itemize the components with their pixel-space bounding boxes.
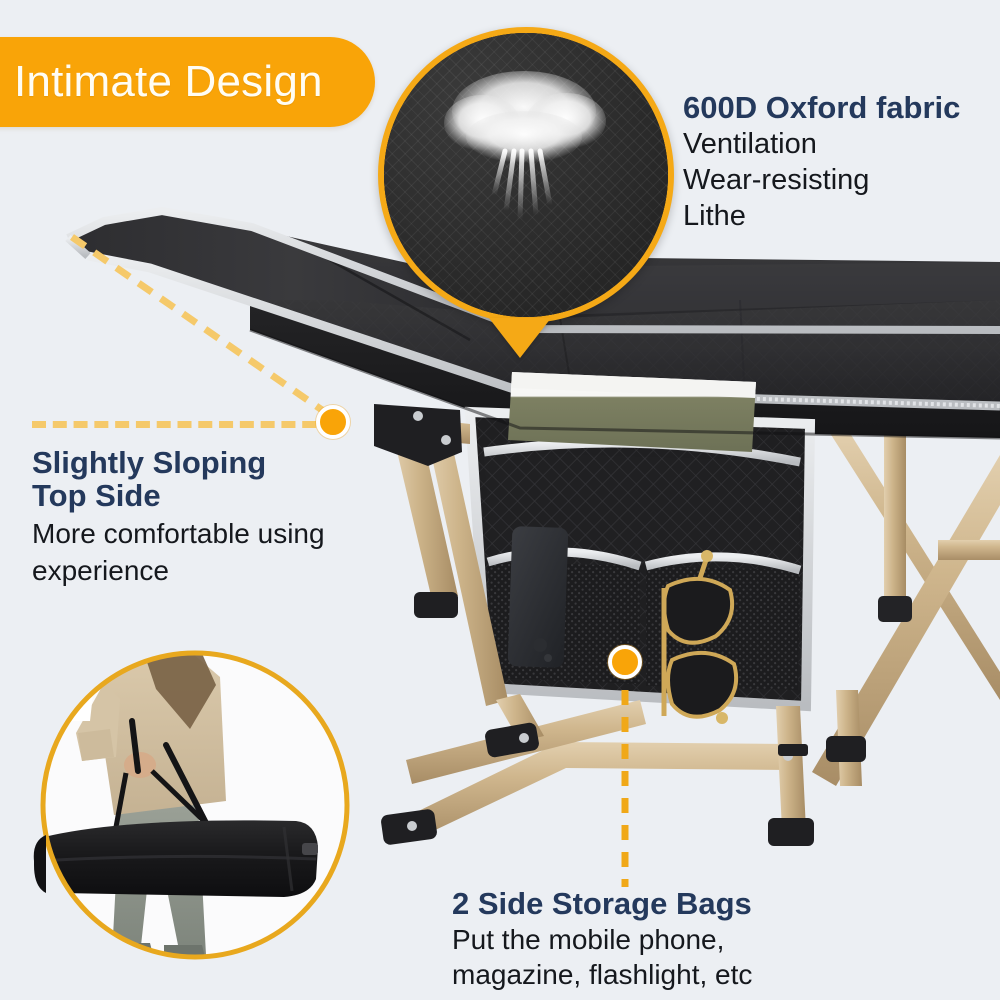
side-storage-bag <box>470 372 810 724</box>
infographic-canvas: Intimate Design 600D Oxford fabric Venti… <box>0 0 1000 1000</box>
callout-text-fabric: 600D Oxford fabric Ventilation Wear-resi… <box>683 92 1000 233</box>
connector-line-slope-diagonal <box>60 225 360 435</box>
mobile-phone <box>508 526 569 668</box>
connector-line-bags-vertical <box>612 655 638 895</box>
slope-heading-line-1: Slightly Sloping <box>32 447 412 480</box>
fabric-macro-callout <box>378 27 674 323</box>
bags-heading: 2 Side Storage Bags <box>452 888 992 921</box>
fabric-line-2: Wear-resisting <box>683 165 1000 197</box>
slope-line-2: experience <box>32 556 412 587</box>
callout-pointer-triangle <box>489 318 551 358</box>
page-title: Intimate Design <box>0 60 323 104</box>
air-flow-steam-icon <box>384 33 668 317</box>
carry-bag-scene <box>20 625 370 985</box>
callout-text-slope: Slightly Sloping Top Side More comfortab… <box>32 447 412 586</box>
magazine <box>508 372 756 452</box>
fabric-heading: 600D Oxford fabric <box>683 92 1000 125</box>
slope-line-1: More comfortable using <box>32 519 412 550</box>
fabric-line-1: Ventilation <box>683 129 1000 161</box>
title-banner: Intimate Design <box>0 37 375 127</box>
fabric-line-3: Lithe <box>683 201 1000 233</box>
connector-dot-slope <box>316 405 350 439</box>
connector-dot-bags <box>608 645 642 679</box>
slope-heading-line-2: Top Side <box>32 480 412 513</box>
bags-line-1: Put the mobile phone, <box>452 925 992 956</box>
bags-line-2: magazine, flashlight, etc <box>452 960 992 991</box>
callout-text-bags: 2 Side Storage Bags Put the mobile phone… <box>452 888 992 990</box>
